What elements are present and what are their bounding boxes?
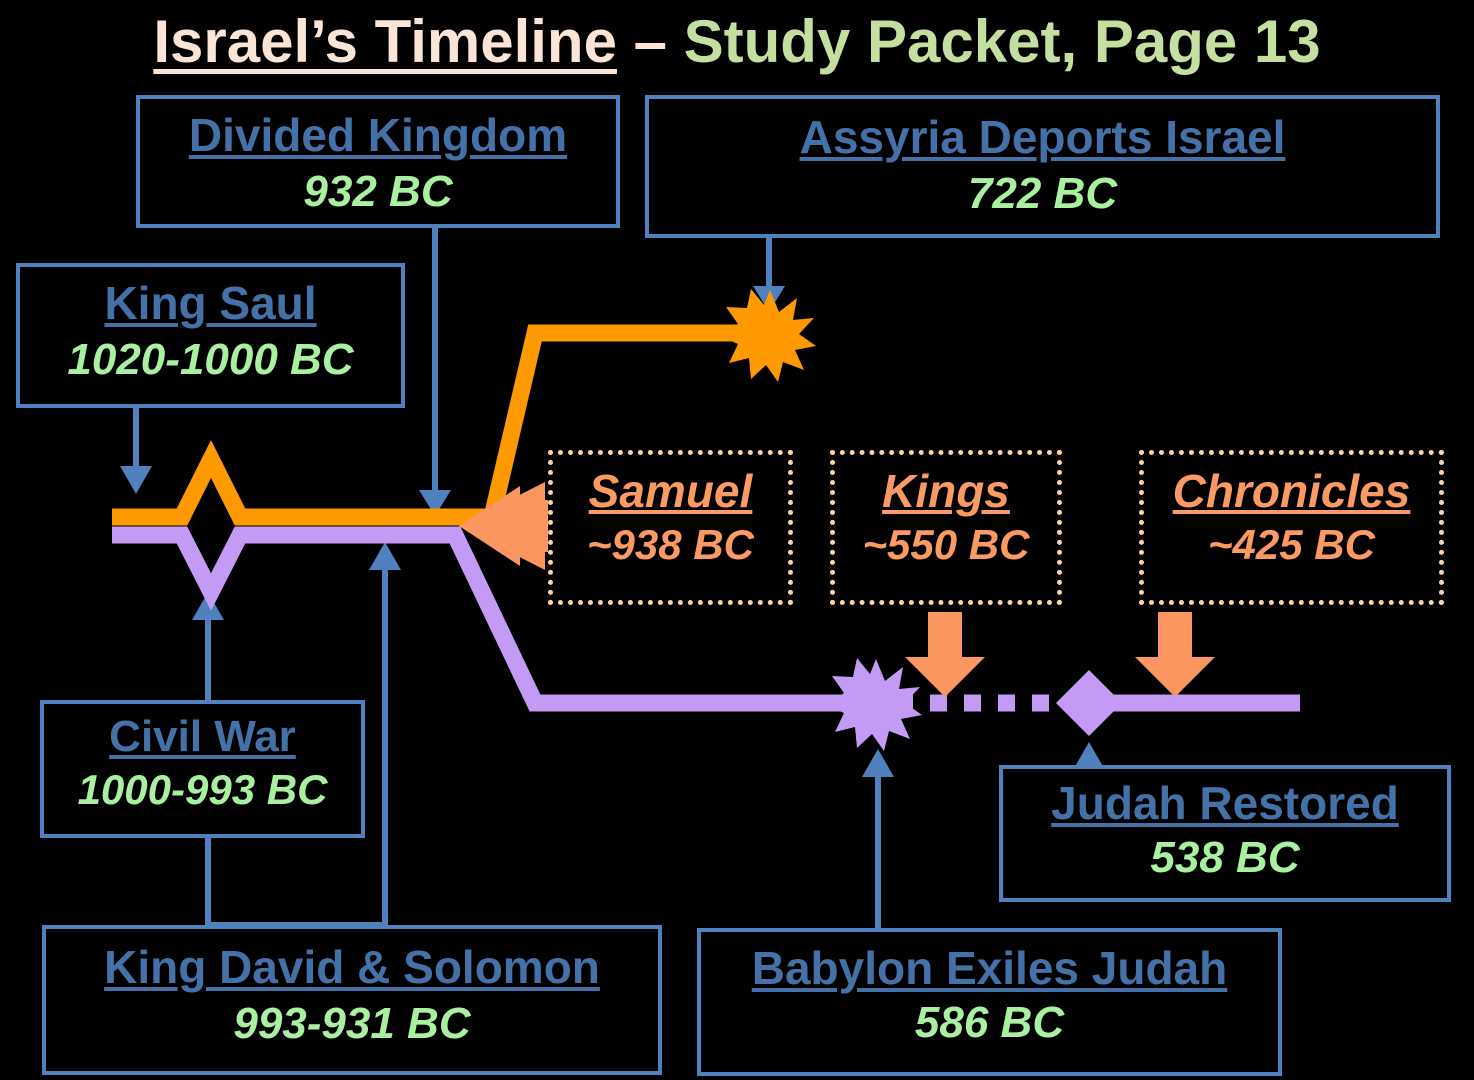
book-box-chronicles[interactable]: Chronicles ~425 BC	[1139, 450, 1444, 605]
kings-reference-arrow	[905, 612, 985, 697]
book-date-samuel: ~938 BC	[553, 523, 788, 567]
event-title-king-david-solomon: King David & Solomon	[46, 943, 658, 991]
event-box-judah-restored[interactable]: Judah Restored 538 BC	[999, 765, 1451, 902]
event-date-king-saul: 1020-1000 BC	[20, 337, 401, 383]
event-title-civil-war: Civil War	[44, 714, 361, 760]
book-title-chronicles: Chronicles	[1144, 467, 1439, 515]
timeline-diagram: Israel’s Timeline – Study Packet, Page 1…	[0, 0, 1474, 1080]
event-date-babylon-exiles: 586 BC	[701, 1000, 1278, 1046]
event-box-babylon-exiles[interactable]: Babylon Exiles Judah 586 BC	[697, 928, 1282, 1076]
connector-divided-kingdom	[419, 228, 451, 516]
connector-assyria-deports	[753, 238, 785, 312]
book-box-samuel[interactable]: Samuel ~938 BC	[548, 450, 793, 605]
book-title-kings: Kings	[835, 467, 1057, 515]
page-title: Israel’s Timeline – Study Packet, Page 1…	[0, 2, 1474, 84]
event-date-king-david-solomon: 993-931 BC	[46, 1001, 658, 1047]
page-title-main: Israel’s Timeline	[153, 8, 617, 75]
event-date-judah-restored: 538 BC	[1003, 835, 1447, 881]
book-date-kings: ~550 BC	[835, 523, 1057, 567]
book-date-chronicles: ~425 BC	[1144, 523, 1439, 567]
event-title-babylon-exiles: Babylon Exiles Judah	[701, 944, 1278, 992]
book-title-samuel: Samuel	[553, 467, 788, 515]
event-box-assyria-deports[interactable]: Assyria Deports Israel 722 BC	[645, 95, 1440, 238]
israel-destruction-starburst-icon	[720, 289, 816, 382]
event-box-civil-war[interactable]: Civil War 1000-993 BC	[40, 700, 365, 838]
event-date-civil-war: 1000-993 BC	[44, 768, 361, 812]
event-box-king-saul[interactable]: King Saul 1020-1000 BC	[16, 263, 405, 408]
page-title-dash: –	[617, 8, 684, 75]
event-title-judah-restored: Judah Restored	[1003, 779, 1447, 827]
chronicles-reference-arrow	[1135, 612, 1215, 697]
event-box-divided-kingdom[interactable]: Divided Kingdom 932 BC	[136, 95, 620, 228]
book-box-kings[interactable]: Kings ~550 BC	[830, 450, 1062, 605]
event-title-king-saul: King Saul	[20, 279, 401, 327]
event-title-divided-kingdom: Divided Kingdom	[140, 111, 616, 159]
connector-king-saul	[120, 408, 152, 494]
event-box-king-david-solomon[interactable]: King David & Solomon 993-931 BC	[42, 925, 662, 1075]
connector-babylon-exiles	[862, 749, 894, 928]
judah-restoration-diamond-icon	[1056, 670, 1122, 736]
samuel-reference-arrow	[459, 482, 548, 570]
judah-exile-starburst-icon	[826, 658, 922, 751]
page-title-subtitle: Study Packet, Page 13	[684, 8, 1321, 75]
event-date-assyria-deports: 722 BC	[649, 171, 1436, 217]
event-title-assyria-deports: Assyria Deports Israel	[649, 113, 1436, 161]
event-date-divided-kingdom: 932 BC	[140, 169, 616, 215]
